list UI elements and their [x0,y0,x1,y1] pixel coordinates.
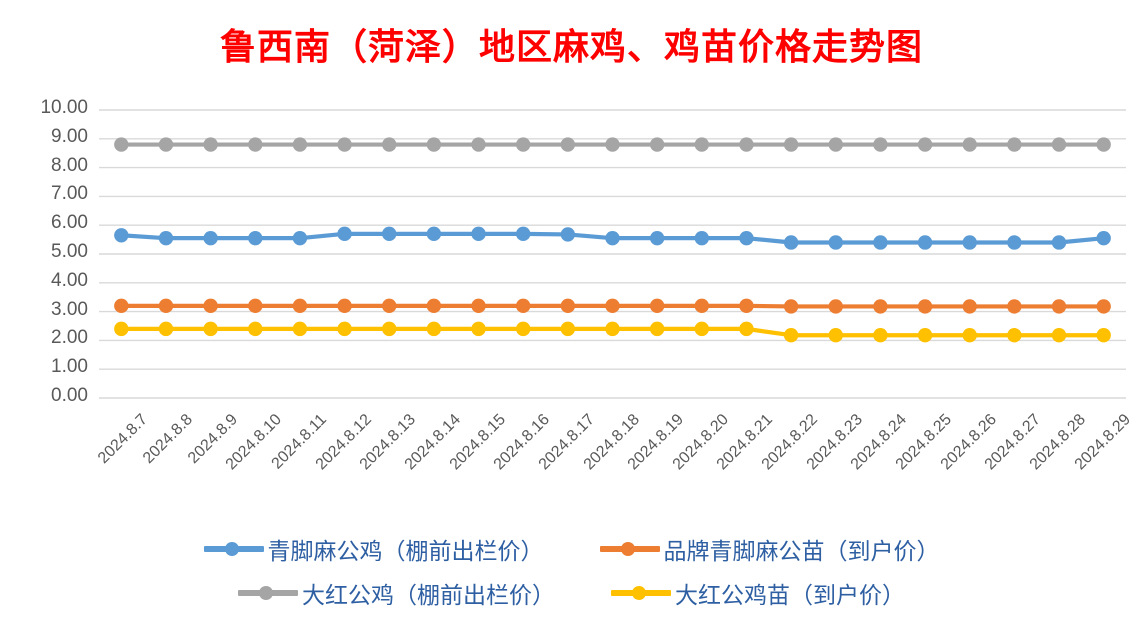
data-point-marker[interactable] [605,322,619,336]
data-point-marker[interactable] [1007,137,1021,151]
data-point-marker[interactable] [471,322,485,336]
data-point-marker[interactable] [1007,299,1021,313]
data-point-marker[interactable] [516,227,530,241]
legend-item[interactable]: 品牌青脚麻公苗（到户价） [600,532,940,566]
legend-marker-icon [204,539,264,559]
data-point-marker[interactable] [829,137,843,151]
data-point-marker[interactable] [963,235,977,249]
data-point-marker[interactable] [784,328,798,342]
data-point-marker[interactable] [427,322,441,336]
data-point-marker[interactable] [695,322,709,336]
data-point-marker[interactable] [1096,328,1110,342]
data-point-marker[interactable] [471,227,485,241]
data-point-marker[interactable] [516,299,530,313]
data-point-marker[interactable] [918,137,932,151]
data-point-marker[interactable] [114,322,128,336]
data-point-marker[interactable] [695,299,709,313]
data-point-marker[interactable] [1052,137,1066,151]
legend-row: 大红公鸡（棚前出栏价）大红公鸡苗（到户价） [0,572,1143,614]
data-point-marker[interactable] [203,299,217,313]
data-point-marker[interactable] [293,299,307,313]
legend-row: 青脚麻公鸡（棚前出栏价）品牌青脚麻公苗（到户价） [0,528,1143,570]
data-point-marker[interactable] [337,227,351,241]
data-point-marker[interactable] [1007,235,1021,249]
data-point-marker[interactable] [873,235,887,249]
data-point-marker[interactable] [114,228,128,242]
data-point-marker[interactable] [471,137,485,151]
legend-item-label: 大红公鸡（棚前出栏价） [302,576,555,610]
data-point-marker[interactable] [963,137,977,151]
data-point-marker[interactable] [739,322,753,336]
data-point-marker[interactable] [337,137,351,151]
data-point-marker[interactable] [963,328,977,342]
data-point-marker[interactable] [516,137,530,151]
data-point-marker[interactable] [382,322,396,336]
data-point-marker[interactable] [650,137,664,151]
data-point-marker[interactable] [159,322,173,336]
data-point-marker[interactable] [963,299,977,313]
data-point-marker[interactable] [248,137,262,151]
data-point-marker[interactable] [784,137,798,151]
data-point-marker[interactable] [561,299,575,313]
data-point-marker[interactable] [382,299,396,313]
data-point-marker[interactable] [248,299,262,313]
series-4 [114,322,1111,343]
data-point-marker[interactable] [784,299,798,313]
legend-item-label: 大红公鸡苗（到户价） [675,576,905,610]
data-point-marker[interactable] [203,231,217,245]
data-point-marker[interactable] [293,322,307,336]
series-3 [114,137,1111,151]
data-point-marker[interactable] [159,137,173,151]
data-point-marker[interactable] [605,231,619,245]
data-point-marker[interactable] [248,322,262,336]
data-point-marker[interactable] [918,328,932,342]
legend-item-label: 青脚麻公鸡（棚前出栏价） [268,532,544,566]
data-point-marker[interactable] [159,299,173,313]
data-point-marker[interactable] [427,227,441,241]
data-point-marker[interactable] [203,322,217,336]
data-point-marker[interactable] [382,227,396,241]
data-point-marker[interactable] [873,299,887,313]
data-point-marker[interactable] [293,231,307,245]
data-point-marker[interactable] [918,299,932,313]
legend-item[interactable]: 大红公鸡（棚前出栏价） [238,576,555,610]
data-point-marker[interactable] [427,299,441,313]
data-point-marker[interactable] [650,231,664,245]
data-point-marker[interactable] [1096,299,1110,313]
plot-svg [0,95,1143,415]
data-point-marker[interactable] [784,235,798,249]
data-point-marker[interactable] [471,299,485,313]
data-point-marker[interactable] [829,328,843,342]
data-point-marker[interactable] [650,322,664,336]
legend-marker-icon [611,583,671,603]
legend-item[interactable]: 大红公鸡苗（到户价） [611,576,905,610]
price-trend-chart: 鲁西南（菏泽）地区麻鸡、鸡苗价格走势图 10.009.008.007.006.0… [0,0,1143,638]
series-1 [114,227,1111,250]
legend-marker-icon [238,583,298,603]
data-point-marker[interactable] [1096,231,1110,245]
data-point-marker[interactable] [695,231,709,245]
data-point-marker[interactable] [293,137,307,151]
data-point-marker[interactable] [695,137,709,151]
data-point-marker[interactable] [829,299,843,313]
data-point-marker[interactable] [114,299,128,313]
legend-item-label: 品牌青脚麻公苗（到户价） [664,532,940,566]
data-point-marker[interactable] [561,137,575,151]
data-point-marker[interactable] [650,299,664,313]
x-axis-tick-labels: 2024.8.72024.8.82024.8.92024.8.102024.8.… [0,403,1143,513]
data-point-marker[interactable] [739,231,753,245]
data-point-marker[interactable] [561,322,575,336]
data-point-marker[interactable] [1096,137,1110,151]
data-point-marker[interactable] [203,137,217,151]
data-point-marker[interactable] [382,137,396,151]
data-point-marker[interactable] [873,137,887,151]
legend-item[interactable]: 青脚麻公鸡（棚前出栏价） [204,532,544,566]
data-point-marker[interactable] [1007,328,1021,342]
data-point-marker[interactable] [739,299,753,313]
data-point-marker[interactable] [739,137,753,151]
data-point-marker[interactable] [561,227,575,241]
data-point-marker[interactable] [159,231,173,245]
data-point-marker[interactable] [248,231,262,245]
data-point-marker[interactable] [918,235,932,249]
data-point-marker[interactable] [516,322,530,336]
data-point-marker[interactable] [114,137,128,151]
chart-title: 鲁西南（菏泽）地区麻鸡、鸡苗价格走势图 [0,18,1143,70]
plot-area: 10.009.008.007.006.005.004.003.002.001.0… [0,95,1143,415]
data-point-marker[interactable] [605,137,619,151]
data-point-marker[interactable] [873,328,887,342]
data-point-marker[interactable] [1052,235,1066,249]
data-point-marker[interactable] [427,137,441,151]
legend-marker-icon [600,539,660,559]
data-point-marker[interactable] [1052,299,1066,313]
data-point-marker[interactable] [337,322,351,336]
data-point-marker[interactable] [829,235,843,249]
chart-legend: 青脚麻公鸡（棚前出栏价）品牌青脚麻公苗（到户价）大红公鸡（棚前出栏价）大红公鸡苗… [0,528,1143,620]
data-point-marker[interactable] [337,299,351,313]
data-point-marker[interactable] [1052,328,1066,342]
data-point-marker[interactable] [605,299,619,313]
